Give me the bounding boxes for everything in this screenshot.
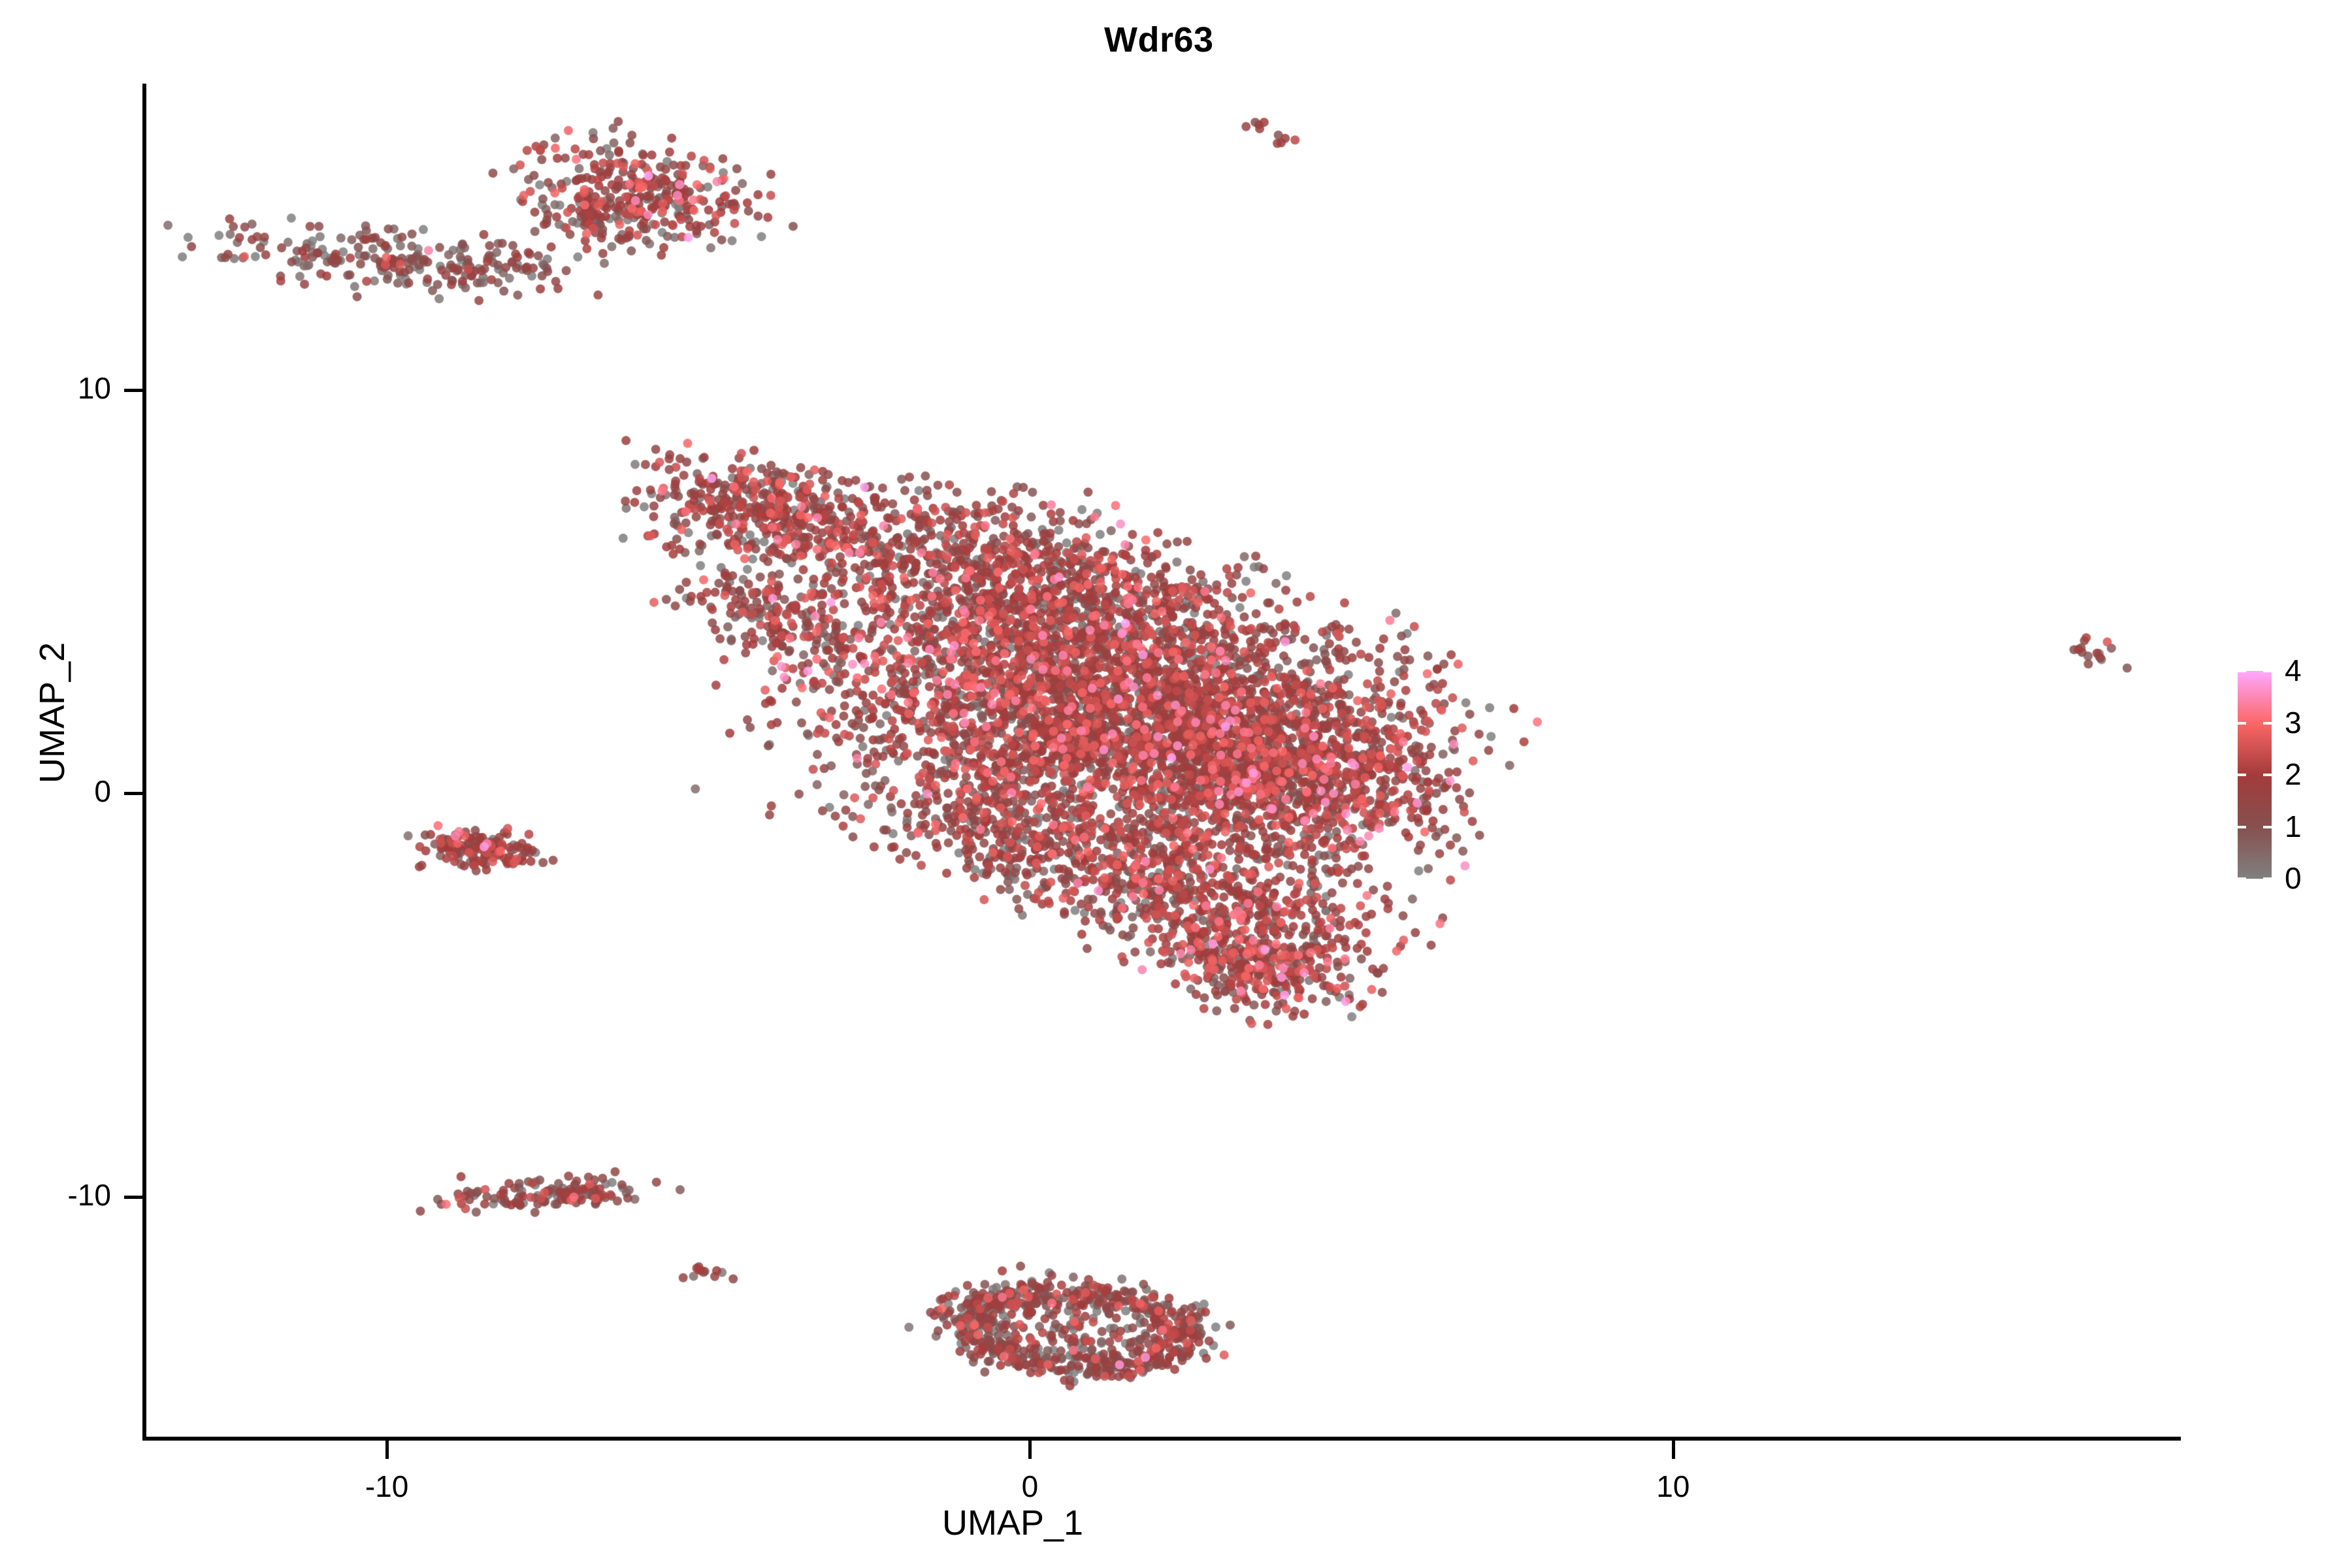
legend-tick-mark	[2263, 722, 2272, 725]
plot-panel	[142, 84, 2200, 1439]
legend-tick-label: 4	[2285, 655, 2302, 685]
legend-tick-mark	[2263, 826, 2272, 828]
x-tick-mark	[1672, 1441, 1675, 1459]
scatter-canvas	[142, 84, 2200, 1439]
legend-tick-mark	[2238, 670, 2246, 672]
legend-tick-mark	[2238, 722, 2246, 725]
legend-tick-mark	[2238, 774, 2246, 776]
legend-tick-label: 3	[2285, 708, 2302, 738]
legend-tick-mark	[2238, 877, 2246, 880]
legend-tick-label: 0	[2285, 863, 2302, 893]
x-axis-line	[142, 1437, 2181, 1441]
y-tick-mark	[124, 792, 142, 795]
y-axis-title: UMAP_2	[32, 504, 73, 922]
x-tick-label: -10	[321, 1469, 452, 1504]
legend-tick-mark	[2238, 826, 2246, 828]
y-tick-mark	[124, 1196, 142, 1199]
x-tick-label: 0	[964, 1469, 1095, 1504]
x-tick-mark	[385, 1441, 389, 1459]
y-axis-line	[142, 84, 146, 1441]
umap-feature-plot: Wdr63 -10010-10010 UMAP_2 UMAP_1 01234	[0, 0, 2352, 1568]
y-tick-mark	[124, 389, 142, 392]
page-title: Wdr63	[1104, 20, 1692, 60]
x-tick-mark	[1028, 1441, 1032, 1459]
legend-tick-label: 2	[2285, 759, 2302, 789]
x-tick-label: 10	[1608, 1469, 1739, 1504]
legend-tick-mark	[2263, 670, 2272, 672]
legend-tick-mark	[2263, 774, 2272, 776]
legend-tick-mark	[2263, 877, 2272, 880]
legend-tick-label: 1	[2285, 811, 2302, 841]
y-tick-label: -10	[7, 1177, 111, 1213]
color-legend: 01234	[2238, 671, 2342, 887]
x-axis-title: UMAP_1	[686, 1503, 1339, 1543]
y-tick-label: 10	[7, 370, 111, 406]
